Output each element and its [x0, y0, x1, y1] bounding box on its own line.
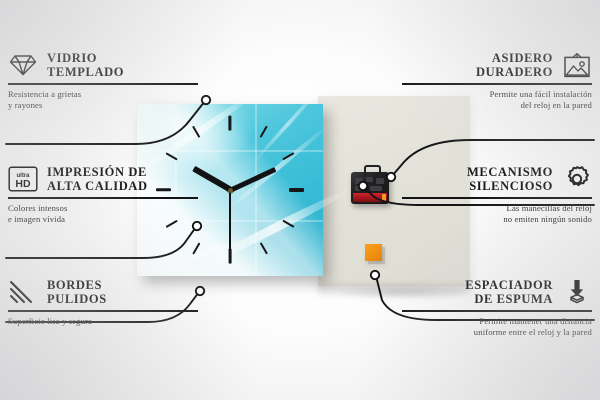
feature-title-line1: BORDES	[47, 278, 107, 293]
foam-spacer	[365, 244, 382, 261]
feature-title-line2: SILENCIOSO	[467, 179, 553, 194]
clock-center-pin	[228, 188, 233, 193]
feature-subtitle-line1: Permite mantener una distancia	[402, 316, 592, 327]
clock-tick	[228, 249, 231, 264]
clock-mechanism	[351, 172, 389, 204]
clock-tick	[228, 116, 231, 131]
feature-divider	[402, 83, 592, 85]
clock-tick	[260, 242, 268, 254]
feather-streak	[250, 82, 327, 166]
mechanism-detail	[355, 186, 365, 191]
feature-title-line1: MECANISMO	[467, 165, 553, 180]
feature-bordes-pulidos: BORDES PULIDOS Superficie lisa y segura	[8, 277, 198, 327]
feature-asidero-duradero: ASIDERO DURADERO Permite una fácil insta…	[402, 50, 592, 111]
feature-title-line2: DURADERO	[476, 65, 553, 80]
diamond-icon	[8, 50, 38, 80]
feature-title-line1: ESPACIADOR	[465, 278, 553, 293]
feature-title-line2: TEMPLADO	[47, 65, 124, 80]
connector-dot-vidrio-templado	[202, 96, 210, 104]
feature-subtitle-line1: Permite una fácil instalación	[402, 89, 592, 100]
feature-subtitle-line2: e imagen vívida	[8, 214, 198, 225]
feature-divider	[402, 310, 592, 312]
battery	[353, 193, 387, 202]
mechanism-hanger	[364, 165, 381, 176]
feature-divider	[8, 310, 198, 312]
feature-title-line1: VIDRIO	[47, 51, 124, 66]
mechanism-detail	[376, 178, 384, 184]
feature-subtitle-line1: Resistencia a grietas	[8, 89, 198, 100]
feature-divider	[8, 197, 198, 199]
feature-subtitle-line2: y rayones	[8, 100, 198, 111]
feature-title-line1: ASIDERO	[476, 51, 553, 66]
feature-espaciador-espuma: ESPACIADOR DE ESPUMA Permite mantener un…	[402, 277, 592, 338]
mechanism-detail	[355, 178, 363, 184]
feature-subtitle-line2: no emiten ningún sonido	[402, 214, 592, 225]
feature-impresion-alta-calidad: ultra HD IMPRESIÓN DE ALTA CALIDAD Color…	[8, 164, 198, 225]
mechanism-detail	[366, 177, 373, 182]
feature-title-line1: IMPRESIÓN DE	[47, 165, 148, 180]
glass-seam	[255, 104, 257, 276]
feature-divider	[402, 197, 592, 199]
feature-vidrio-templado: VIDRIO TEMPLADO Resistencia a grietas y …	[8, 50, 198, 111]
ultra-hd-icon: ultra HD	[8, 164, 38, 194]
foam-spacer-icon	[562, 277, 592, 307]
wall-frame-icon	[562, 50, 592, 80]
clock-tick	[289, 188, 304, 191]
feather-streak	[150, 230, 264, 276]
svg-text:HD: HD	[15, 178, 31, 190]
mechanism-detail	[370, 186, 382, 191]
clock-tick	[260, 125, 268, 137]
feature-subtitle-line1: Superficie lisa y segura	[8, 316, 198, 327]
feature-subtitle-line2: uniforme entre el reloj y la pared	[402, 327, 592, 338]
feature-subtitle-line1: Colores intensos	[8, 203, 198, 214]
feature-divider	[8, 83, 198, 85]
feature-title-line2: DE ESPUMA	[465, 292, 553, 307]
feature-mecanismo-silencioso: MECANISMO SILENCIOSO Las manecillas del …	[402, 164, 592, 225]
feature-title-line2: ALTA CALIDAD	[47, 179, 148, 194]
battery-terminal	[382, 194, 386, 201]
clock-second-hand	[229, 190, 231, 250]
feature-subtitle-line1: Las manecillas del reloj	[402, 203, 592, 214]
feature-title-line2: PULIDOS	[47, 292, 107, 307]
feather-streak	[196, 186, 352, 271]
polished-edges-icon	[8, 277, 38, 307]
infographic-canvas: VIDRIO TEMPLADO Resistencia a grietas y …	[0, 0, 600, 400]
feature-subtitle-line2: del reloj en la pared	[402, 100, 592, 111]
gear-icon	[562, 164, 592, 194]
clock-hour-hand	[192, 167, 231, 193]
